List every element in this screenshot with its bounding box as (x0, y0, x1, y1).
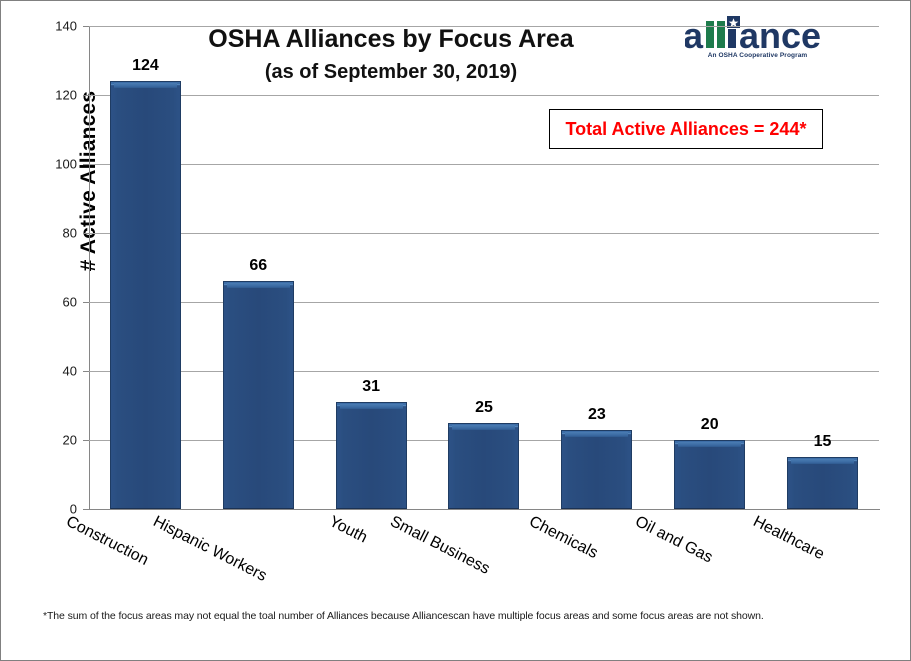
y-axis-tick-label: 120 (29, 88, 77, 103)
bar-highlight (791, 459, 854, 464)
x-axis-category-label: Healthcare (750, 513, 827, 564)
bar-slot: 20 (653, 26, 766, 509)
bar[interactable] (674, 440, 745, 509)
x-axis-line (89, 509, 880, 510)
bar-value-label: 15 (766, 433, 879, 451)
bar-slot: 31 (315, 26, 428, 509)
bar[interactable] (223, 281, 294, 509)
chart-container: OSHA Alliances by Focus Area (as of Sept… (0, 0, 911, 661)
x-axis-category-label: Youth (326, 513, 370, 547)
bar-highlight (678, 442, 741, 447)
y-axis-tick-label: 140 (29, 19, 77, 34)
x-axis-category-label: Oil and Gas (631, 513, 714, 567)
bar-highlight (227, 283, 290, 288)
bar-value-label: 66 (202, 257, 315, 275)
y-axis-tick-label: 20 (29, 433, 77, 448)
x-axis-category-label: Chemicals (526, 513, 601, 563)
bar-slot: 66 (202, 26, 315, 509)
bar-highlight (565, 432, 628, 437)
bar[interactable] (448, 423, 519, 509)
x-axis-category-label: Hispanic Workers (150, 513, 270, 586)
bar-slot: 23 (540, 26, 653, 509)
bar[interactable] (787, 457, 858, 509)
x-axis-category-label: Construction (63, 513, 151, 570)
y-axis-tick-label: 40 (29, 364, 77, 379)
bar-slot: 15 (766, 26, 879, 509)
y-axis-tick-label: 60 (29, 295, 77, 310)
plot-area: 124663125232015 (89, 26, 879, 509)
bar-value-label: 124 (89, 57, 202, 75)
footnote: *The sum of the focus areas may not equa… (43, 610, 883, 622)
bar-value-label: 23 (540, 406, 653, 424)
x-axis-category-label: Small Business (387, 513, 493, 579)
bar-highlight (114, 83, 177, 88)
y-axis-tick (83, 509, 89, 510)
bar-value-label: 20 (653, 416, 766, 434)
bar-value-label: 25 (428, 399, 541, 417)
bar-slot: 25 (428, 26, 541, 509)
y-axis-tick-label: 100 (29, 157, 77, 172)
y-axis-tick-label: 80 (29, 226, 77, 241)
bar[interactable] (336, 402, 407, 509)
bar[interactable] (110, 81, 181, 509)
bar[interactable] (561, 430, 632, 509)
bar-value-label: 31 (315, 378, 428, 396)
bar-highlight (340, 404, 403, 409)
bar-slot: 124 (89, 26, 202, 509)
bar-highlight (452, 425, 515, 430)
